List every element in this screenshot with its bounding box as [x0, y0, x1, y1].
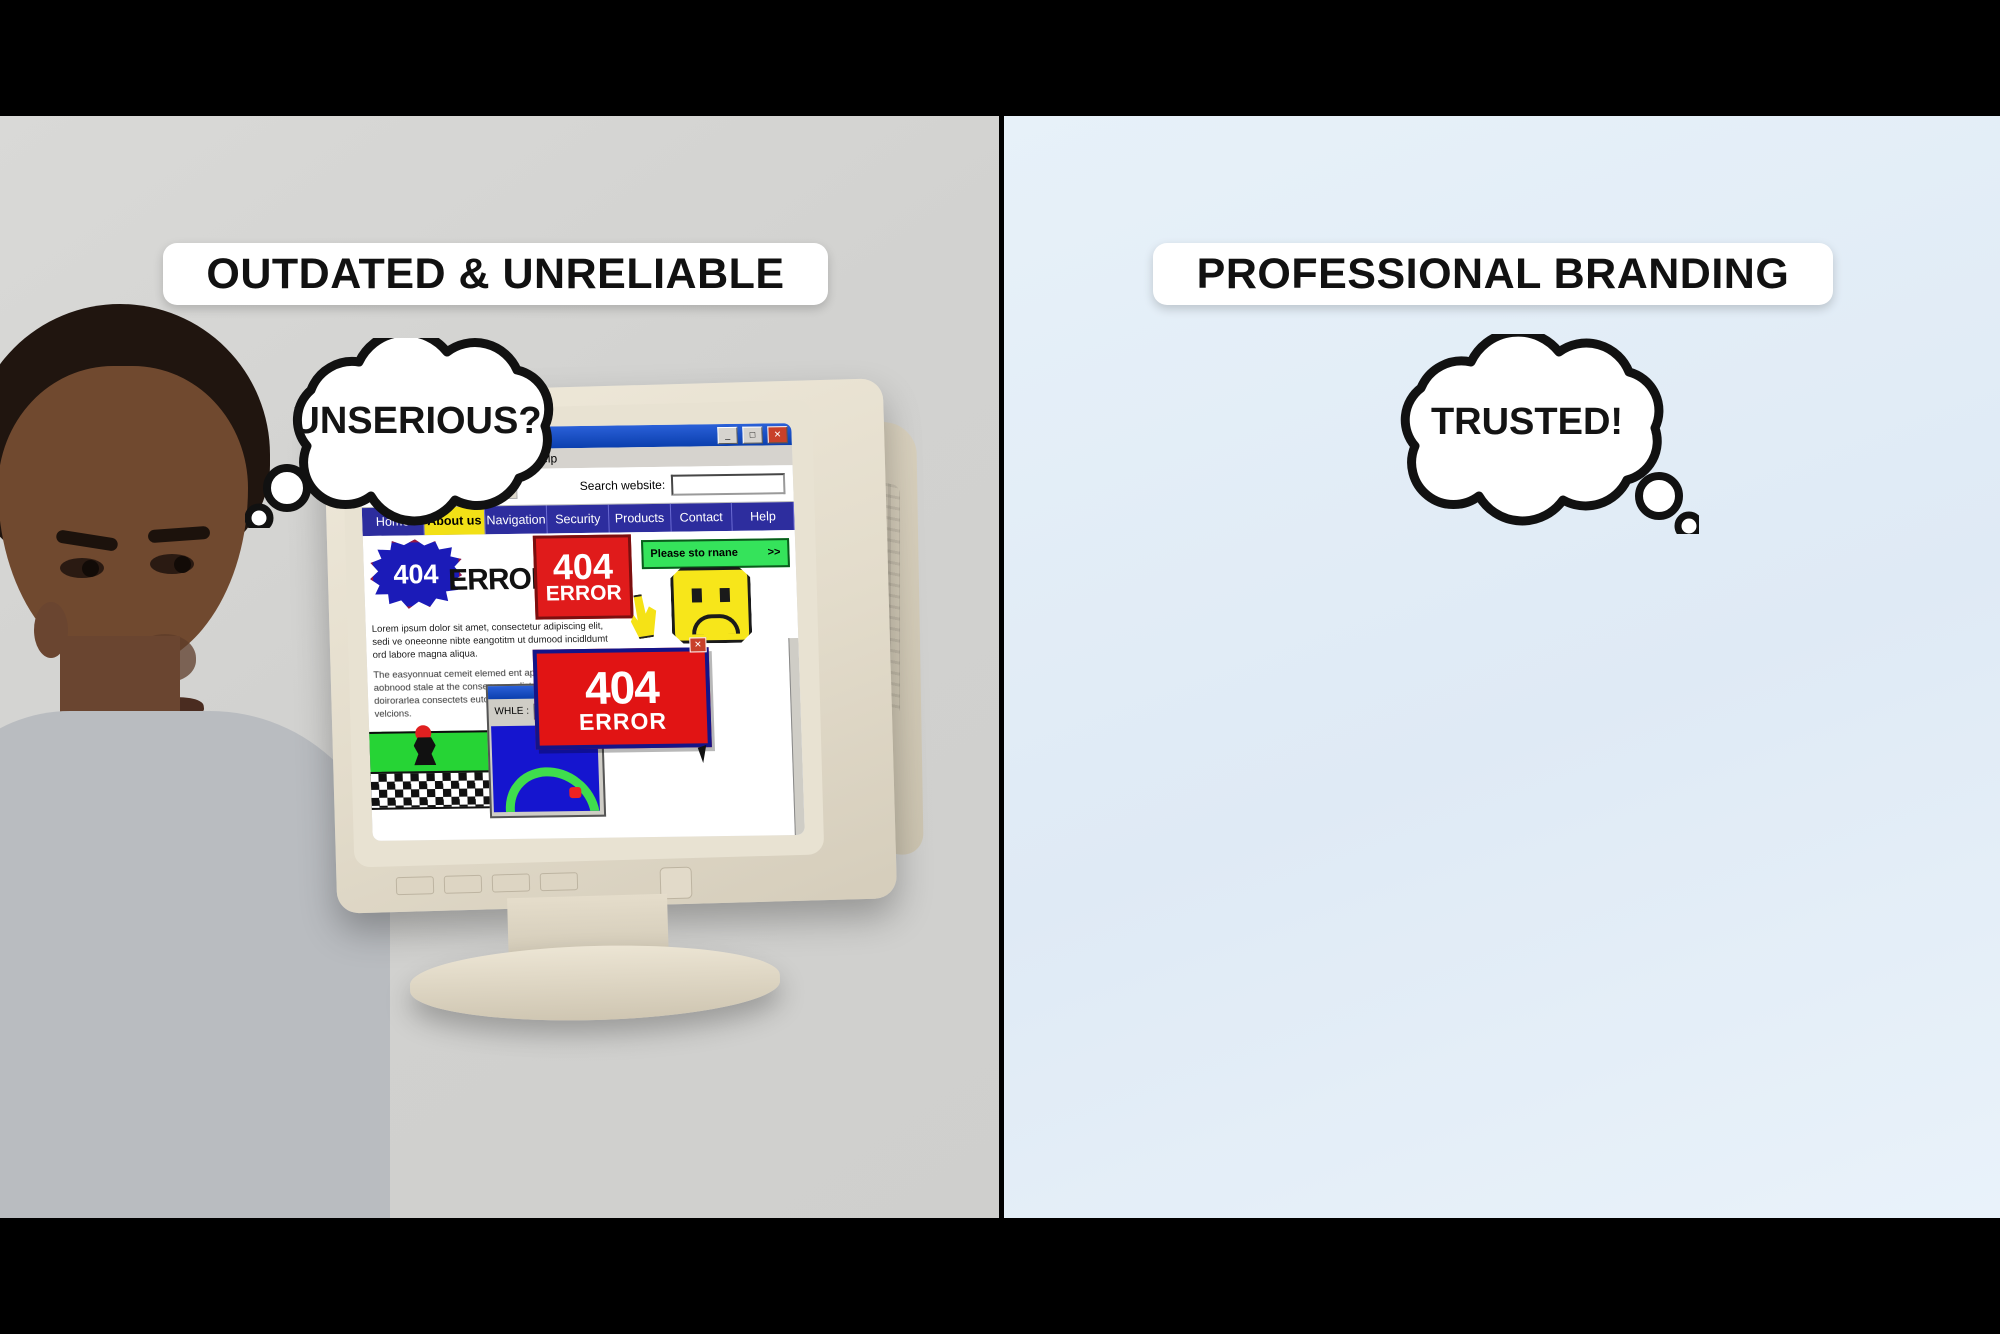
old-page-body: 404 ERROR 404 ERROR Please sto rnane >> [363, 530, 805, 841]
mouse-pointer-icon [698, 743, 717, 763]
site-search: Search website: [579, 473, 785, 497]
minimize-button[interactable]: _ [717, 426, 738, 443]
left-header-pill: OUTDATED & UNRELIABLE [163, 243, 828, 305]
nav-item-contact[interactable]: Contact [670, 503, 733, 532]
red-404-tile: 404 ERROR [533, 534, 634, 619]
close-button[interactable]: ✕ [767, 426, 788, 443]
monitor-button-3[interactable] [492, 873, 530, 892]
monitor-button-4[interactable] [540, 872, 578, 891]
big-error-word: ERROR [579, 709, 668, 733]
screenshot-canvas: ▤ Cxh Ach ari1 1vesab _ □ ✕ File Edit Vi… [0, 0, 2000, 1334]
nav-item-help[interactable]: Help [732, 502, 795, 531]
arc-endpoint-marker [569, 787, 581, 798]
monitor-button-2[interactable] [444, 875, 482, 894]
green-marquee-banner[interactable]: Please sto rnane >> [641, 538, 790, 569]
thought-left-text: UNSERIOUS? [292, 400, 541, 442]
sad-face-icon [670, 567, 753, 644]
popup-close-icon[interactable]: ✕ [689, 637, 706, 652]
monitor-base [409, 941, 781, 1025]
face [0, 366, 248, 671]
eyebrow-left [55, 529, 118, 552]
popup-label: WHLE : [494, 705, 529, 719]
thought-bubble-right: TRUSTED! [1359, 334, 1699, 534]
eyebrow-right [148, 526, 211, 543]
sad-mouth [691, 614, 740, 635]
big-error-code: 404 [584, 663, 659, 710]
maximize-button[interactable]: □ [742, 426, 763, 443]
thought-right-text: TRUSTED! [1431, 401, 1623, 443]
split-comparison-content: ▤ Cxh Ach ari1 1vesab _ □ ✕ File Edit Vi… [0, 116, 2000, 1218]
sad-eye-left [692, 588, 702, 602]
eye-right [150, 554, 194, 574]
search-label: Search website: [580, 478, 666, 493]
pixel-character-icon [413, 737, 436, 765]
search-input[interactable] [671, 473, 786, 496]
red-tile-word: ERROR [545, 584, 622, 605]
sad-eye-right [720, 588, 730, 602]
red-tile-code: 404 [552, 550, 613, 585]
eye-left [60, 558, 104, 578]
progress-arc [491, 748, 600, 812]
green-banner-arrow: >> [767, 545, 780, 560]
monitor-button-1[interactable] [396, 876, 434, 895]
thought-bubble-left: UNSERIOUS? [245, 338, 585, 528]
right-header-pill: PROFESSIONAL BRANDING [1153, 243, 1833, 305]
green-banner-text: Please sto rnane [650, 546, 738, 562]
panel-divider [999, 116, 1004, 1218]
big-404-error-popup: ✕ 404 ERROR [533, 647, 712, 749]
nav-item-products[interactable]: Products [609, 504, 672, 533]
